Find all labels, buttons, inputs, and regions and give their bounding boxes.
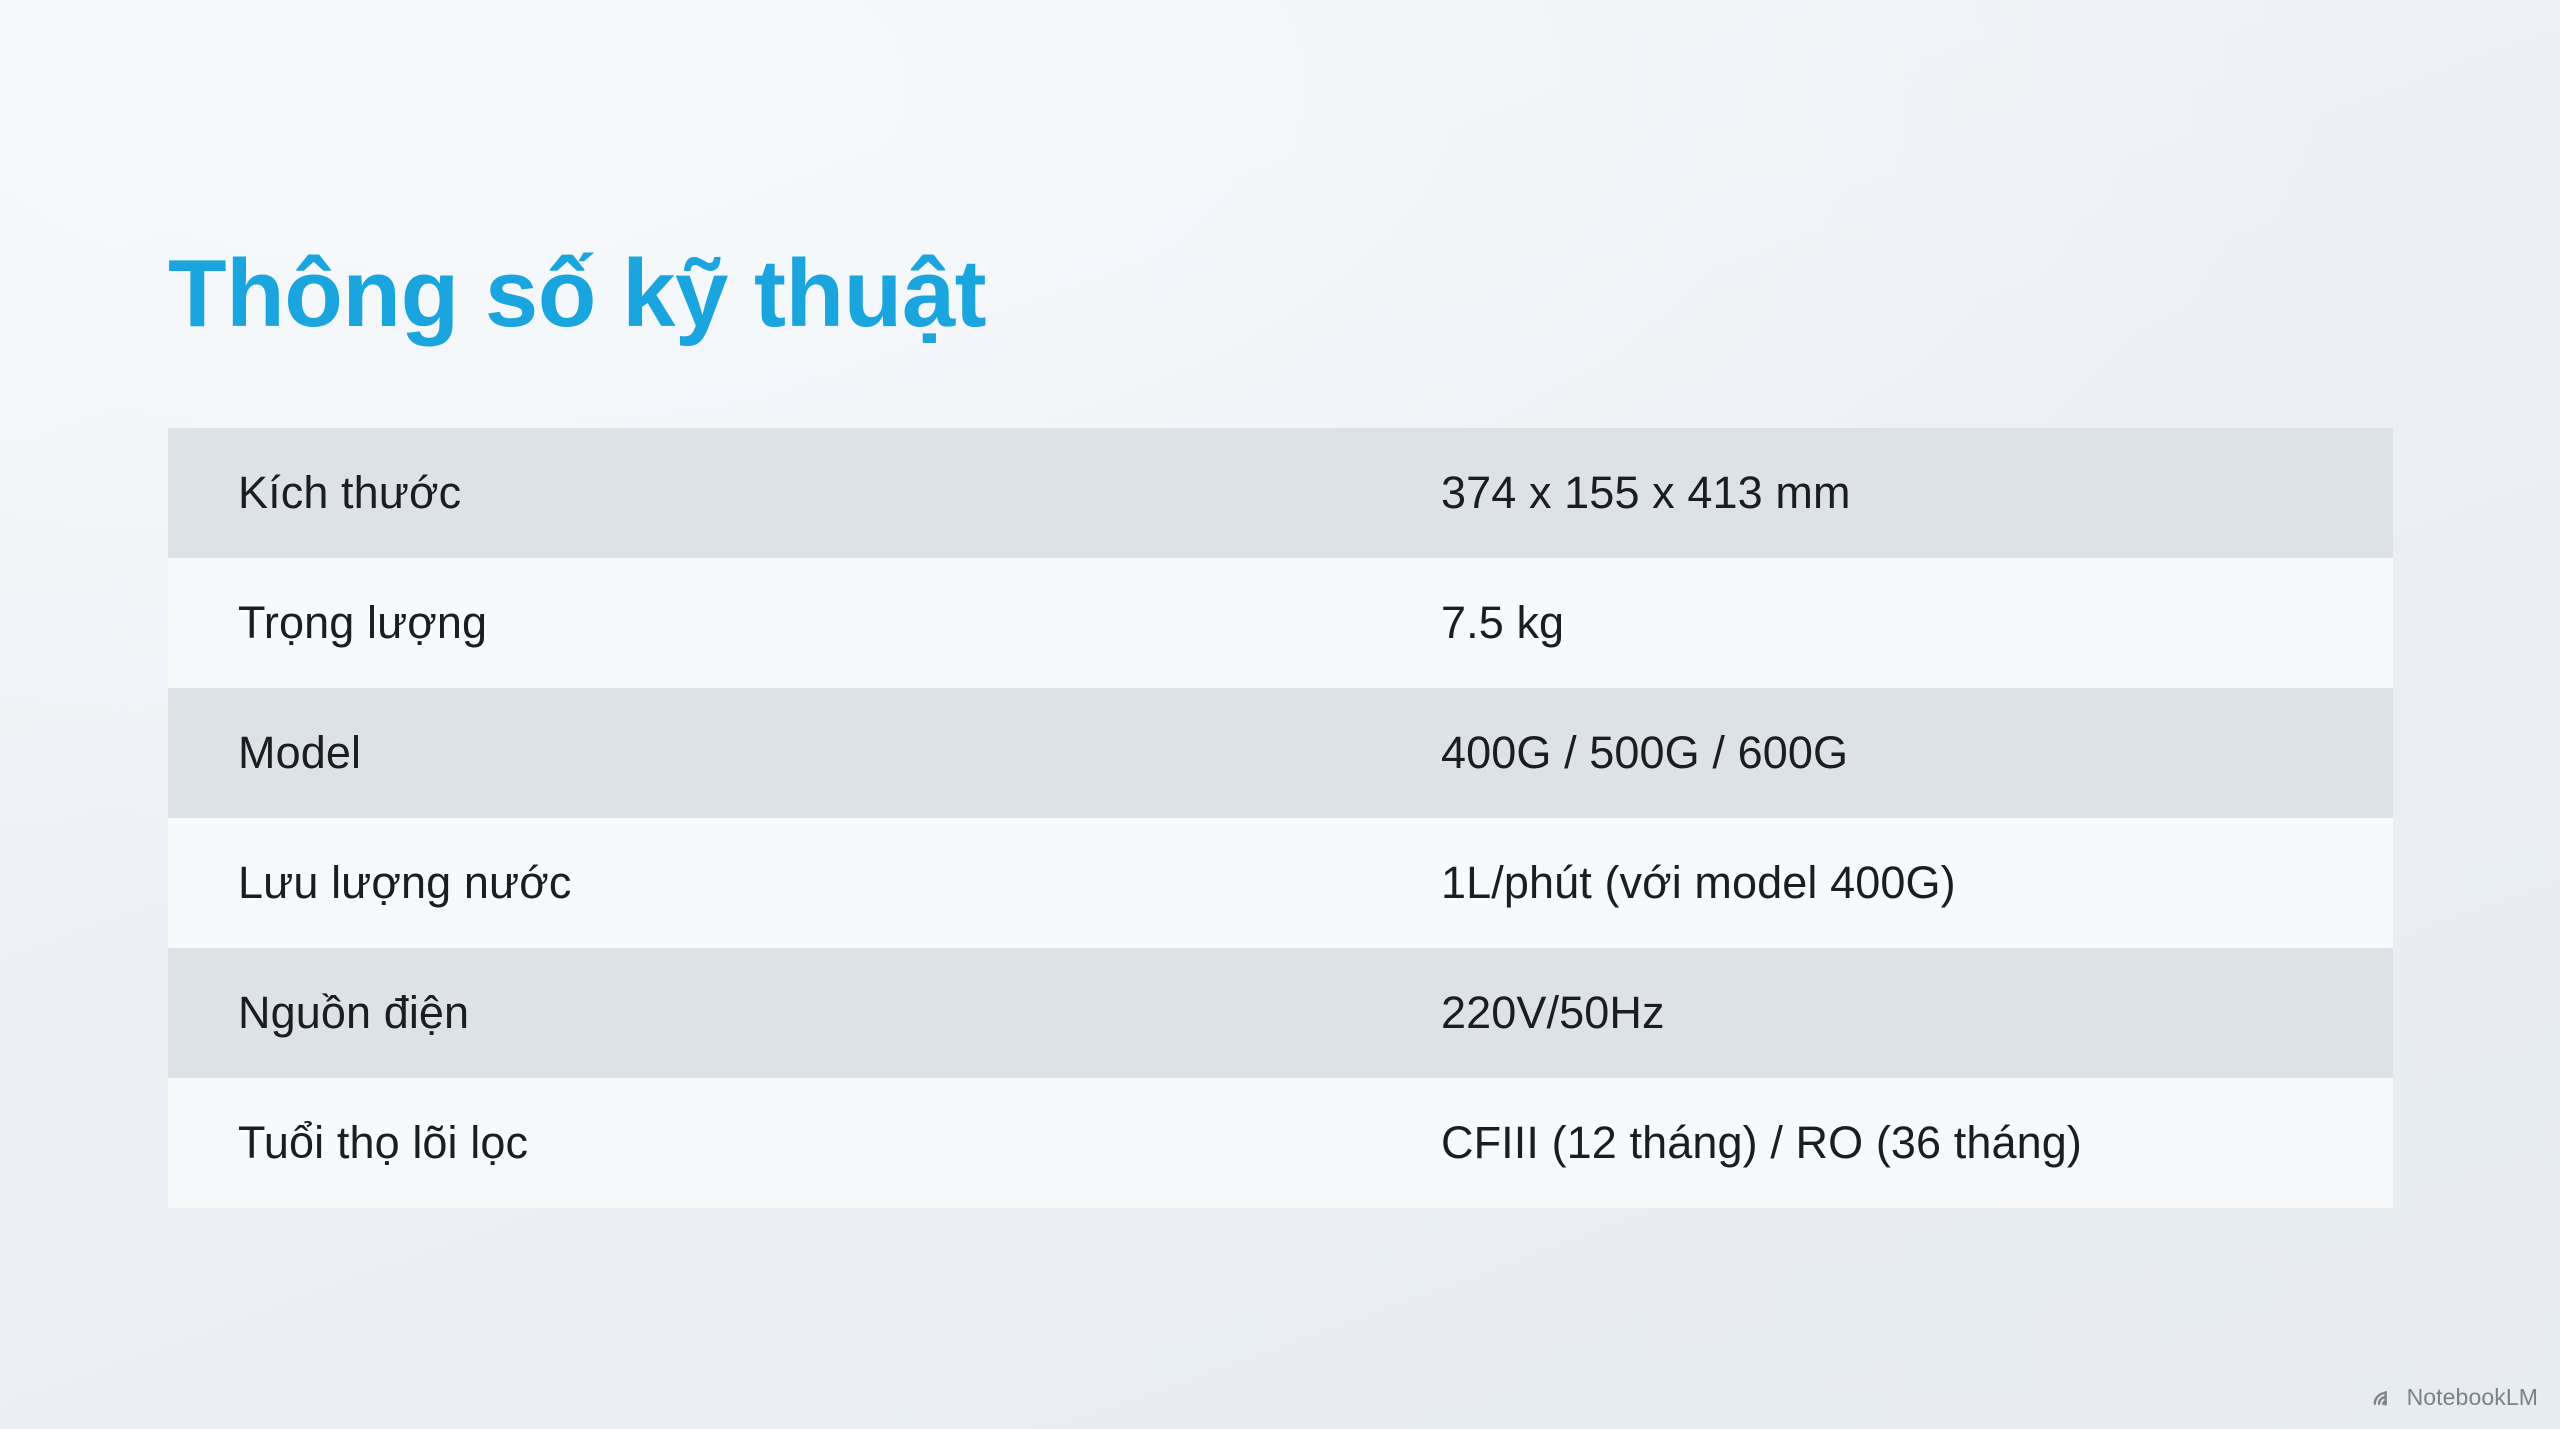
spec-label: Model — [168, 688, 1423, 818]
spec-value: 400G / 500G / 600G — [1423, 688, 2393, 818]
notebooklm-arc-icon — [2371, 1384, 2398, 1411]
spec-label: Lưu lượng nước — [168, 818, 1423, 948]
table-row: Model 400G / 500G / 600G — [168, 688, 2393, 818]
spec-label: Trọng lượng — [168, 558, 1423, 688]
spec-value: 374 x 155 x 413 mm — [1423, 428, 2393, 558]
spec-value: CFIII (12 tháng) / RO (36 tháng) — [1423, 1078, 2393, 1208]
table-row: Kích thước 374 x 155 x 413 mm — [168, 428, 2393, 558]
table-row: Lưu lượng nước 1L/phút (với model 400G) — [168, 818, 2393, 948]
spec-value: 7.5 kg — [1423, 558, 2393, 688]
spec-label: Tuổi thọ lõi lọc — [168, 1078, 1423, 1208]
notebooklm-label: NotebookLM — [2407, 1386, 2538, 1409]
specifications-table: Kích thước 374 x 155 x 413 mm Trọng lượn… — [168, 428, 2393, 1208]
notebooklm-watermark: NotebookLM — [2371, 1384, 2538, 1411]
page-title: Thông số kỹ thuật — [168, 242, 986, 346]
table-row: Trọng lượng 7.5 kg — [168, 558, 2393, 688]
specifications-table-body: Kích thước 374 x 155 x 413 mm Trọng lượn… — [168, 428, 2393, 1208]
spec-value: 1L/phút (với model 400G) — [1423, 818, 2393, 948]
spec-value: 220V/50Hz — [1423, 948, 2393, 1078]
table-row: Tuổi thọ lõi lọc CFIII (12 tháng) / RO (… — [168, 1078, 2393, 1208]
spec-label: Nguồn điện — [168, 948, 1423, 1078]
spec-label: Kích thước — [168, 428, 1423, 558]
slide-canvas: Thông số kỹ thuật Kích thước 374 x 155 x… — [0, 0, 2560, 1429]
table-row: Nguồn điện 220V/50Hz — [168, 948, 2393, 1078]
